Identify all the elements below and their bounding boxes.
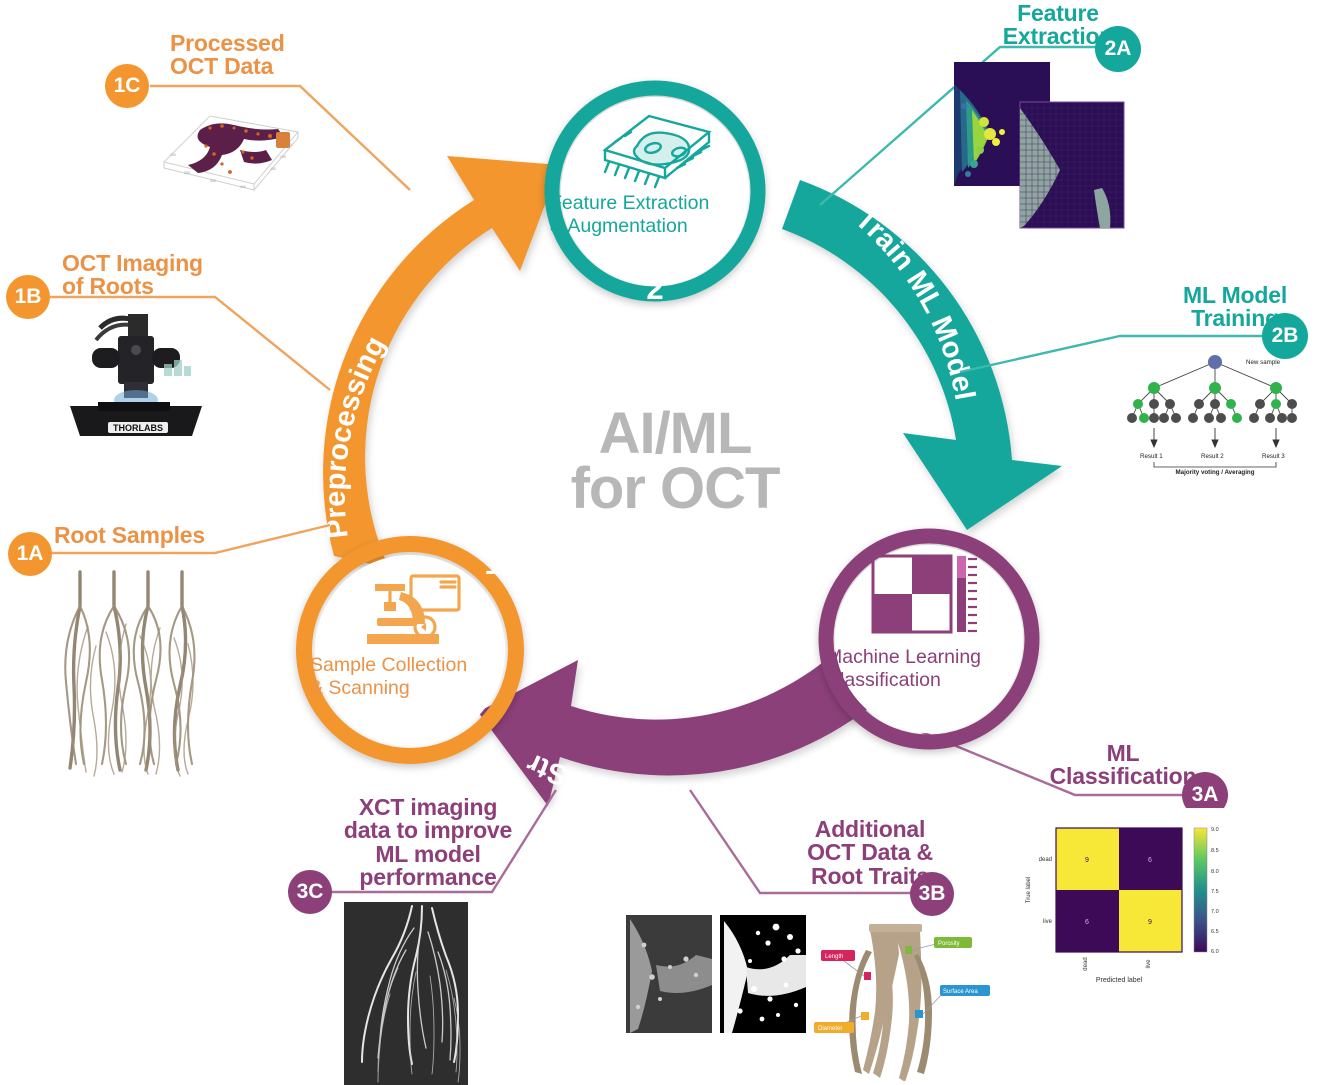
callout-1a-caption: Root Samples bbox=[54, 524, 254, 547]
center-wordmark: AI/ML for OCT bbox=[540, 406, 810, 516]
cm-row-label-1: live bbox=[1043, 919, 1053, 925]
node-2-line2: & Augmentation bbox=[550, 215, 760, 238]
node-2-badge: 2 bbox=[625, 259, 685, 319]
feature-extraction-heatmaps bbox=[950, 62, 1130, 232]
cm-cbar-tick-5: 6.5 bbox=[1211, 929, 1219, 935]
node-1-line1: Sample Collection bbox=[310, 654, 510, 677]
cm-cell-0-0: 9 bbox=[1085, 857, 1089, 864]
svg-text:50: 50 bbox=[288, 143, 292, 147]
oct-microscope-photo: THORLABS bbox=[52, 310, 220, 440]
root-trait-label-surface-area: Surface Area bbox=[943, 989, 978, 995]
node-1-title: Sample Collection & Scanning bbox=[310, 654, 510, 700]
confusion-matrix-icon bbox=[871, 554, 991, 636]
callout-1c-caption: Processed OCT Data bbox=[170, 32, 370, 79]
node-3-line1: Machine Learning bbox=[826, 646, 1032, 669]
node-3-badge: 3 bbox=[800, 537, 862, 599]
svg-text:100: 100 bbox=[280, 155, 286, 159]
cm-cbar-tick-1: 8.5 bbox=[1211, 848, 1219, 854]
center-wordmark-line1: AI/ML bbox=[540, 406, 810, 461]
cm-cbar-tick-2: 8.0 bbox=[1211, 869, 1219, 875]
microscope-brand-label: THORLABS bbox=[113, 423, 163, 433]
diagram-canvas: Preprocessing Train ML Model Inform Data… bbox=[0, 0, 1318, 1085]
center-wordmark-line2: for OCT bbox=[540, 461, 810, 516]
root-trait-label-diameter: Diameter bbox=[818, 1026, 842, 1032]
node-3-line2: Classification bbox=[826, 669, 1032, 692]
cm-cbar-tick-0: 9.0 bbox=[1211, 827, 1219, 833]
cm-cell-1-1: 9 bbox=[1148, 919, 1152, 926]
oct-slices-grayscale bbox=[626, 915, 806, 1033]
random-forest-diagram: New sample Result 1 Result 2 Result 3 Ma… bbox=[1122, 348, 1308, 476]
cm-col-label-1: live bbox=[1146, 959, 1152, 969]
callout-3c-caption: XCT imaging data to improve ML model per… bbox=[328, 796, 528, 890]
svg-text:400: 400 bbox=[240, 185, 246, 189]
svg-text:200: 200 bbox=[184, 171, 190, 175]
svg-text:150: 150 bbox=[270, 167, 276, 171]
microscope-icon bbox=[355, 572, 465, 652]
cm-cell-1-0: 6 bbox=[1085, 919, 1089, 926]
cm-col-label-0: dead bbox=[1083, 957, 1089, 970]
xct-root-scan bbox=[344, 902, 468, 1085]
callout-3c-badge: 3C bbox=[288, 870, 332, 914]
cm-row-label-0: dead bbox=[1039, 857, 1052, 863]
node-2-line1: Feature Extraction bbox=[550, 192, 760, 215]
root-traits-diagram: Length Porosity Surface Area Diameter bbox=[812, 906, 992, 1081]
rf-footer: Majority voting / Averaging bbox=[1176, 469, 1255, 476]
cm-cell-0-1: 6 bbox=[1148, 857, 1152, 864]
rf-result-1: Result 1 bbox=[1140, 453, 1163, 460]
callout-1a-badge: 1A bbox=[8, 532, 52, 576]
callout-1b-badge: 1B bbox=[6, 275, 50, 319]
cm-cbar-tick-3: 7.5 bbox=[1211, 889, 1219, 895]
callout-1c-badge: 1C bbox=[105, 64, 149, 108]
root-trait-label-length: Length bbox=[825, 954, 843, 960]
cm-cbar-tick-4: 7.0 bbox=[1211, 909, 1219, 915]
cm-xlabel: Predicted label bbox=[1096, 977, 1143, 984]
cm-cbar-tick-6: 6.0 bbox=[1211, 949, 1219, 955]
rf-result-2: Result 2 bbox=[1201, 453, 1224, 460]
cm-ylabel: True label bbox=[1026, 877, 1032, 903]
callout-1b-caption: OCT Imaging of Roots bbox=[62, 252, 252, 299]
callout-3a-caption: ML Classification bbox=[1038, 742, 1208, 789]
node-2-title: Feature Extraction & Augmentation bbox=[550, 192, 760, 238]
node-1-line2: & Scanning bbox=[310, 677, 510, 700]
node-1-badge: 1 bbox=[464, 535, 522, 593]
volume-slice-icon bbox=[591, 102, 721, 192]
root-trait-label-porosity: Porosity bbox=[938, 941, 960, 947]
processed-oct-3d-plot: 100200300 40050100 150 bbox=[148, 88, 313, 200]
svg-text:100: 100 bbox=[170, 153, 176, 157]
rf-root-label: New sample bbox=[1246, 359, 1281, 366]
confusion-matrix-plot: 9 6 6 9 dead live True label dead live P… bbox=[1012, 808, 1227, 988]
svg-text:300: 300 bbox=[210, 179, 216, 183]
root-samples-photo bbox=[48, 566, 228, 781]
node-3-title: Machine Learning Classification bbox=[826, 646, 1032, 692]
rf-result-3: Result 3 bbox=[1262, 453, 1285, 460]
